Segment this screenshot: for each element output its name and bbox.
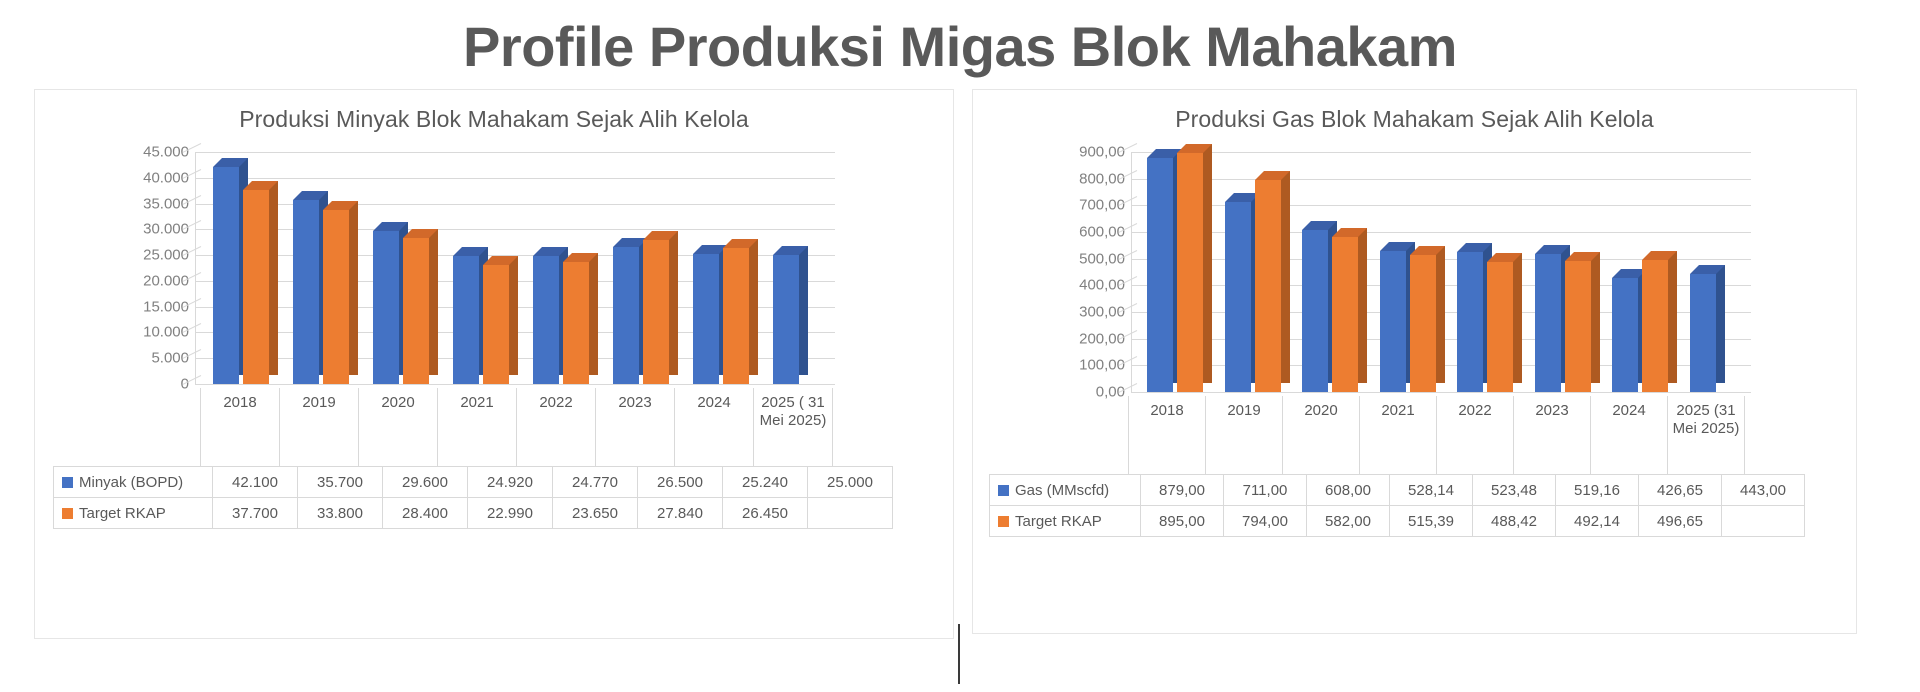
bar[interactable] (1177, 153, 1203, 392)
table-cell: 29.600 (383, 467, 468, 498)
x-axis-tick-label: 2022 (1436, 396, 1514, 474)
bar[interactable] (1535, 254, 1561, 392)
bar-face (533, 256, 559, 384)
table-cell: 22.990 (468, 498, 553, 529)
bar[interactable] (1147, 158, 1173, 392)
bar-series-container (195, 152, 835, 384)
bar[interactable] (613, 247, 639, 384)
plot-area-oil[interactable]: 45.00040.00035.00030.00025.00020.00015.0… (35, 143, 953, 529)
bar[interactable] (1255, 180, 1281, 392)
bar-face (1332, 237, 1358, 392)
bar-side (1716, 265, 1725, 383)
bar-face (723, 248, 749, 384)
plot-canvas: 900,00800,00700,00600,00500,00400,00300,… (973, 143, 1856, 396)
bar-face (403, 238, 429, 384)
series-name: Gas (MMscfd) (1015, 482, 1109, 499)
bar-group[interactable] (435, 152, 515, 384)
table-cell: 26.500 (638, 467, 723, 498)
table-cell: 582,00 (1307, 506, 1390, 537)
bar[interactable] (563, 262, 589, 384)
x-axis-tick-label: 2025 ( 31 Mei 2025) (753, 388, 833, 466)
bar[interactable] (1487, 262, 1513, 392)
table-cell: 523,48 (1473, 475, 1556, 506)
table-cell: 25.240 (723, 467, 808, 498)
gridline (195, 384, 835, 385)
x-axis-tick-label: 2019 (1205, 396, 1283, 474)
bar-face (453, 256, 479, 384)
bar[interactable] (1642, 260, 1668, 392)
table-cell: 794,00 (1224, 506, 1307, 537)
table-row[interactable]: Target RKAP895,00794,00582,00515,39488,4… (990, 506, 1805, 537)
bar-group[interactable] (1209, 152, 1287, 392)
bar-face (1147, 158, 1173, 392)
bar-group[interactable] (1131, 152, 1209, 392)
x-axis-tick-label: 2018 (1128, 396, 1206, 474)
bar[interactable] (403, 238, 429, 384)
bar-face (773, 255, 799, 384)
bar-group[interactable] (595, 152, 675, 384)
charts-row: Produksi Minyak Blok Mahakam Sejak Alih … (0, 89, 1920, 639)
table-cell: 528,14 (1390, 475, 1473, 506)
table-cell: 488,42 (1473, 506, 1556, 537)
bar[interactable] (533, 256, 559, 384)
data-table[interactable]: Minyak (BOPD)42.10035.70029.60024.92024.… (53, 466, 893, 529)
bar[interactable] (323, 210, 349, 384)
table-cell: 608,00 (1307, 475, 1390, 506)
x-axis-tick-label: 2023 (1513, 396, 1591, 474)
table-cell: 42.100 (213, 467, 298, 498)
bar-face (1457, 252, 1483, 392)
series-name: Minyak (BOPD) (79, 474, 183, 491)
x-axis-tick-label: 2024 (1590, 396, 1668, 474)
bar-group[interactable] (275, 152, 355, 384)
bar-face (1177, 153, 1203, 392)
table-row[interactable]: Gas (MMscfd)879,00711,00608,00528,14523,… (990, 475, 1805, 506)
bar-group[interactable] (195, 152, 275, 384)
legend-swatch-blue-icon (998, 485, 1009, 496)
bar-face (373, 231, 399, 384)
bar-face (1225, 202, 1251, 392)
bar[interactable] (1565, 261, 1591, 392)
table-cell: 515,39 (1390, 506, 1473, 537)
table-cell: 879,00 (1141, 475, 1224, 506)
y-axis-labels: 45.00040.00035.00030.00025.00020.00015.0… (103, 143, 189, 375)
series-name: Target RKAP (1015, 513, 1102, 530)
table-cell: 496,65 (1639, 506, 1722, 537)
bar[interactable] (1410, 255, 1436, 392)
bar[interactable] (483, 265, 509, 384)
plot-canvas: 45.00040.00035.00030.00025.00020.00015.0… (35, 143, 953, 388)
bar[interactable] (643, 240, 669, 384)
x-axis-tick-label: 2021 (1359, 396, 1437, 474)
x-axis-spacer (53, 388, 201, 466)
bar-group[interactable] (1286, 152, 1364, 392)
table-cell: 28.400 (383, 498, 468, 529)
panel-divider (958, 624, 960, 684)
bar-face (1302, 230, 1328, 392)
bar-face (1642, 260, 1668, 392)
bar[interactable] (723, 248, 749, 384)
bar-face (293, 200, 319, 384)
x-axis-tick-label: 2019 (279, 388, 359, 466)
series-legend-cell: Target RKAP (54, 498, 213, 529)
bar[interactable] (1690, 274, 1716, 392)
series-name: Target RKAP (79, 505, 166, 522)
series-legend-cell: Gas (MMscfd) (990, 475, 1141, 506)
bar-face (323, 210, 349, 384)
bar-face (213, 167, 239, 384)
bar-group[interactable] (355, 152, 435, 384)
bar[interactable] (693, 254, 719, 384)
plot-area-gas[interactable]: 900,00800,00700,00600,00500,00400,00300,… (973, 143, 1856, 537)
bar-group[interactable] (755, 152, 835, 384)
bar[interactable] (1380, 251, 1406, 392)
legend-swatch-orange-icon (62, 508, 73, 519)
bar-group[interactable] (1519, 152, 1597, 392)
bar-face (483, 265, 509, 384)
table-cell: 492,14 (1556, 506, 1639, 537)
x-axis-spacer (989, 396, 1129, 474)
bar[interactable] (1332, 237, 1358, 392)
legend-swatch-blue-icon (62, 477, 73, 488)
table-cell: 33.800 (298, 498, 383, 529)
data-table[interactable]: Gas (MMscfd)879,00711,00608,00528,14523,… (989, 474, 1805, 537)
table-cell: 895,00 (1141, 506, 1224, 537)
bar[interactable] (1302, 230, 1328, 392)
bar-group[interactable] (1674, 152, 1752, 392)
bar-group[interactable] (515, 152, 595, 384)
y-axis-labels: 900,00800,00700,00600,00500,00400,00300,… (1039, 143, 1125, 383)
chart-panel-gas[interactable]: Produksi Gas Blok Mahakam Sejak Alih Kel… (972, 89, 1857, 634)
bar-face (1612, 278, 1638, 392)
bar-group[interactable] (1364, 152, 1442, 392)
bar-side (799, 246, 808, 375)
bar-group[interactable] (675, 152, 755, 384)
table-cell: 24.770 (553, 467, 638, 498)
chart-title-gas: Produksi Gas Blok Mahakam Sejak Alih Kel… (973, 90, 1856, 133)
bar-face (243, 190, 269, 384)
table-cell: 25.000 (808, 467, 893, 498)
bar-face (1410, 255, 1436, 392)
bar[interactable] (1612, 278, 1638, 392)
x-axis-tick-label: 2025 (31 Mei 2025) (1667, 396, 1745, 474)
table-cell: 26.450 (723, 498, 808, 529)
x-axis-tick-label: 2024 (674, 388, 754, 466)
bar-face (1487, 262, 1513, 392)
x-axis-tick-label: 2022 (516, 388, 596, 466)
bar[interactable] (1225, 202, 1251, 392)
bar-group[interactable] (1596, 152, 1674, 392)
table-cell (1722, 506, 1805, 537)
table-cell: 443,00 (1722, 475, 1805, 506)
x-axis-tick-label: 2018 (200, 388, 280, 466)
bar[interactable] (1457, 252, 1483, 392)
table-cell: 35.700 (298, 467, 383, 498)
x-axis-tick-label: 2023 (595, 388, 675, 466)
table-cell: 426,65 (1639, 475, 1722, 506)
table-cell: 24.920 (468, 467, 553, 498)
x-axis-tick-label: 2020 (358, 388, 438, 466)
bar-face (1690, 274, 1716, 392)
series-legend-cell: Target RKAP (990, 506, 1141, 537)
gridline (1131, 392, 1751, 393)
page-title: Profile Produksi Migas Blok Mahakam (0, 14, 1920, 79)
bar[interactable] (373, 231, 399, 384)
bar-face (643, 240, 669, 384)
bar-face (693, 254, 719, 384)
bar[interactable] (293, 200, 319, 384)
table-row[interactable]: Minyak (BOPD)42.10035.70029.60024.92024.… (54, 467, 893, 498)
x-axis-tick-label: 2020 (1282, 396, 1360, 474)
bar-face (613, 247, 639, 384)
table-cell: 519,16 (1556, 475, 1639, 506)
bar[interactable] (773, 255, 799, 384)
table-cell (808, 498, 893, 529)
table-cell: 711,00 (1224, 475, 1307, 506)
bar[interactable] (213, 167, 239, 384)
bar-series-container (1131, 152, 1751, 392)
legend-swatch-orange-icon (998, 516, 1009, 527)
bar-face (1380, 251, 1406, 392)
chart-panel-oil[interactable]: Produksi Minyak Blok Mahakam Sejak Alih … (34, 89, 954, 639)
x-axis-labels: 20182019202020212022202320242025 (31 Mei… (989, 396, 1856, 474)
bar[interactable] (243, 190, 269, 384)
bar-face (1255, 180, 1281, 392)
bar[interactable] (453, 256, 479, 384)
table-cell: 37.700 (213, 498, 298, 529)
x-axis-labels: 20182019202020212022202320242025 ( 31 Me… (53, 388, 953, 466)
bar-face (1535, 254, 1561, 392)
bar-group[interactable] (1441, 152, 1519, 392)
x-axis-tick-label: 2021 (437, 388, 517, 466)
table-cell: 23.650 (553, 498, 638, 529)
table-row[interactable]: Target RKAP37.70033.80028.40022.99023.65… (54, 498, 893, 529)
series-legend-cell: Minyak (BOPD) (54, 467, 213, 498)
chart-title-oil: Produksi Minyak Blok Mahakam Sejak Alih … (35, 90, 953, 133)
table-cell: 27.840 (638, 498, 723, 529)
bar-face (1565, 261, 1591, 392)
bar-face (563, 262, 589, 384)
